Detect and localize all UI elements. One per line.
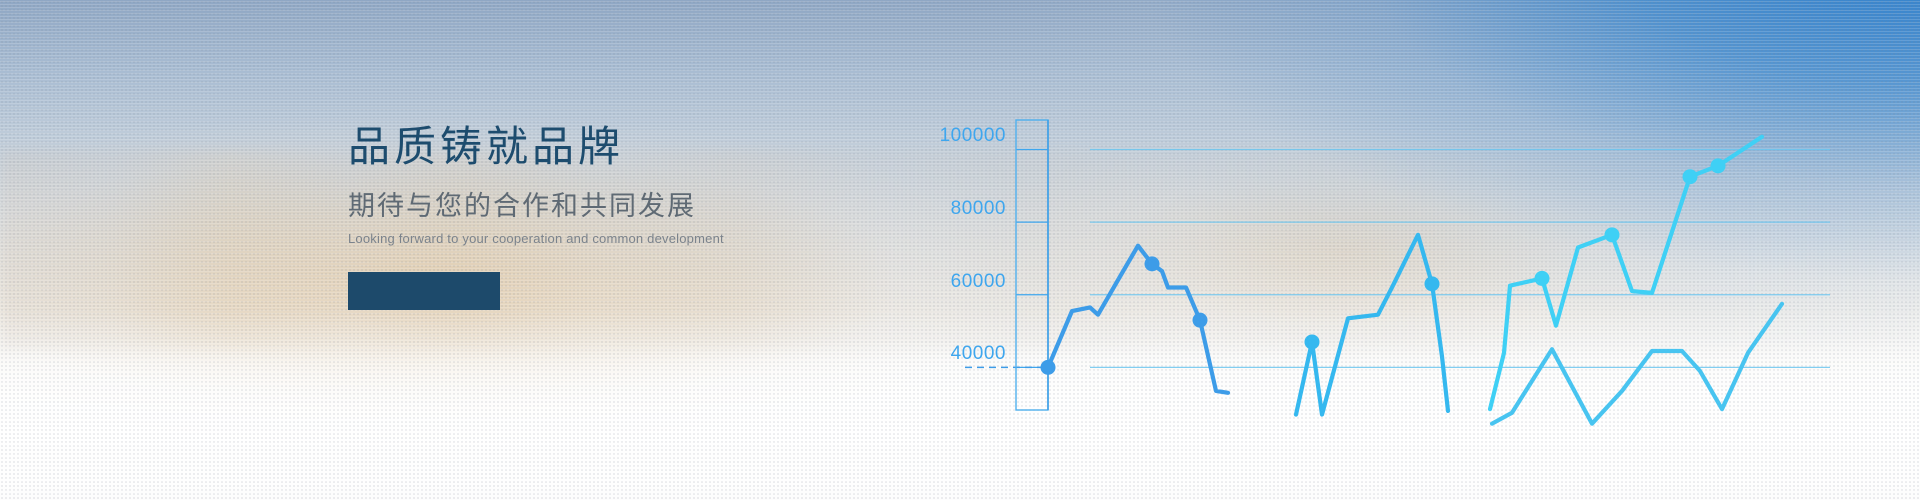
y-axis-tick-label: 40000 [886, 343, 1006, 365]
page-title: 品质铸就品牌 [348, 122, 908, 172]
chart-svg [0, 0, 1920, 500]
series-line [1492, 304, 1782, 424]
data-point-marker [1683, 169, 1698, 184]
data-point-marker [1041, 360, 1056, 375]
line-chart: 100000800006000040000 [0, 0, 1920, 500]
hero-subtitle-cn: 期待与您的合作和共同发展 [348, 190, 908, 222]
series-line [1296, 235, 1448, 415]
data-point-marker [1425, 276, 1440, 291]
gridlines [965, 149, 1830, 367]
data-point-marker [1193, 313, 1208, 328]
hero-subtitle-en: Looking forward to your cooperation and … [348, 231, 908, 246]
hero-copy: 品质铸就品牌 期待与您的合作和共同发展 Looking forward to y… [348, 122, 908, 310]
series-lines [1048, 137, 1782, 424]
hero-banner: 100000800006000040000 品质铸就品牌 期待与您的合作和共同发… [0, 0, 1920, 500]
data-point-marker [1145, 256, 1160, 271]
cta-button[interactable] [348, 272, 500, 310]
series-line [1490, 137, 1762, 409]
data-point-marker [1605, 227, 1620, 242]
data-point-marker [1711, 158, 1726, 173]
data-point-marker [1305, 334, 1320, 349]
data-point-marker [1535, 271, 1550, 286]
